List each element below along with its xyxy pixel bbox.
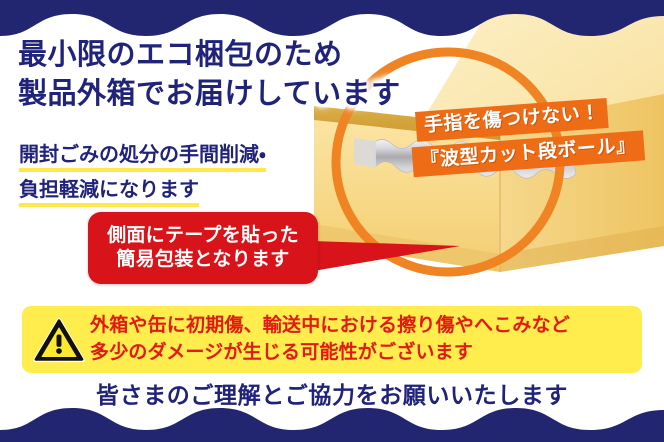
headline-line-1: 最小限のエコ梱包のため xyxy=(18,36,448,75)
closing-line: 皆さまのご理解とご協力をお願いいたします xyxy=(0,376,664,410)
subheading-block: 開封ごみの処分の手間削減・ 負担軽減になります xyxy=(19,140,266,210)
red-callout-line-1: 側面にテープを貼った xyxy=(107,224,299,248)
warning-line-2: 多少のダメージが生じる可能性がございます xyxy=(90,340,634,367)
subheading-line-2: 負担軽減になります xyxy=(19,175,199,207)
subheading-line-1: 開封ごみの処分の手間削減・ xyxy=(19,140,266,172)
promo-banner: 最小限のエコ梱包のため 製品外箱でお届けしています 開封ごみの処分の手間削減・ … xyxy=(0,0,664,442)
red-callout-box: 側面にテープを貼った 簡易包装となります xyxy=(88,212,318,284)
warning-triangle-icon xyxy=(28,317,90,363)
warning-text-block: 外箱や缶に初期傷、輸送中における擦り傷やへこみなど 多少のダメージが生じる可能性… xyxy=(90,313,642,367)
headline-line-2: 製品外箱でお届けしています xyxy=(18,75,448,114)
warning-line-1: 外箱や缶に初期傷、輸送中における擦り傷やへこみなど xyxy=(90,313,634,340)
red-callout-group: 側面にテープを貼った 簡易包装となります xyxy=(88,212,378,296)
warning-banner: 外箱や缶に初期傷、輸送中における擦り傷やへこみなど 多少のダメージが生じる可能性… xyxy=(22,306,642,373)
headline-block: 最小限のエコ梱包のため 製品外箱でお届けしています xyxy=(18,36,448,113)
red-callout-line-2: 簡易包装となります xyxy=(116,248,289,272)
